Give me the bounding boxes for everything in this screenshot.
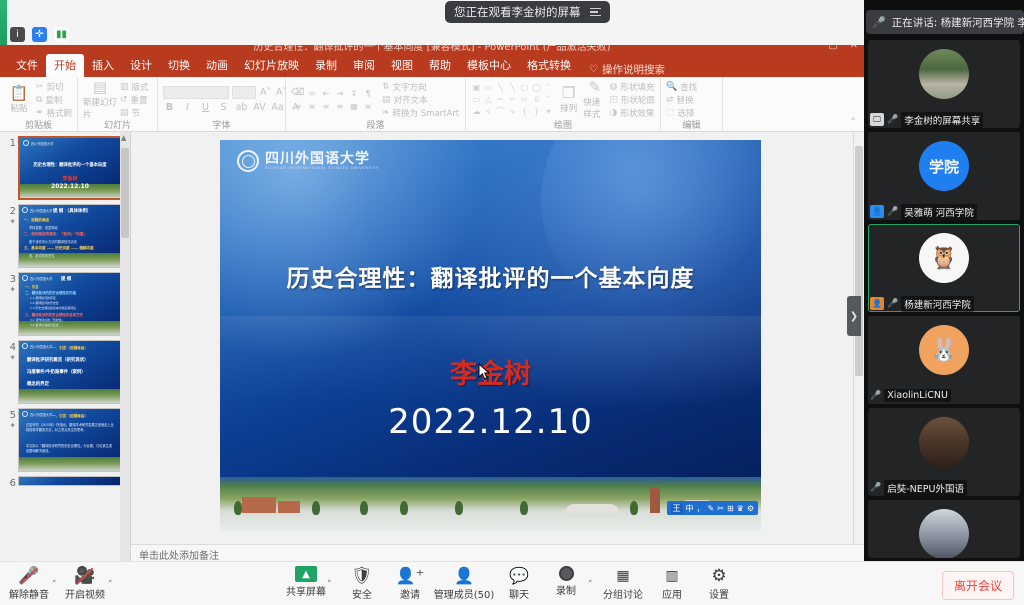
avatar: [919, 417, 969, 467]
distribute-icon[interactable]: ≡: [361, 100, 375, 113]
font-size-select[interactable]: [232, 86, 256, 99]
thumbnail-number: 3✦: [2, 272, 16, 294]
arrange-label: 排列: [560, 102, 577, 114]
group-label-clipboard: 剪贴板: [5, 120, 72, 132]
arrange-icon: ❐: [562, 86, 575, 101]
toolbar-participants-label: 管理成员(50): [434, 586, 495, 601]
thumbnail-number: 4✦: [2, 340, 16, 362]
convert-smartart-button[interactable]: ❧转换为 SmartArt: [382, 107, 459, 119]
text-direction-icon: ⇅: [382, 82, 390, 92]
campus-photo: 王 中 ， ✎ ✂ ⊞ ♛ ⚙: [220, 477, 761, 531]
shape-line-icon[interactable]: ╲: [495, 82, 506, 93]
italic-button[interactable]: I: [181, 102, 194, 113]
participant-tile-xiaolinlicnu[interactable]: 🐰 🎤 XiaolinLiCNU: [868, 316, 1020, 404]
leave-meeting-button[interactable]: 离开会议: [942, 571, 1014, 600]
record-options-chevron-icon[interactable]: ˄: [588, 580, 593, 590]
cohost-badge-icon: 👤: [870, 205, 884, 218]
shape-effects-icon: ◑: [609, 108, 617, 118]
participant-name: XiaolinLiCNU: [884, 389, 951, 402]
ribbon-tab-view[interactable]: 视图: [383, 54, 421, 77]
ime-tools-icon[interactable]: ✂: [717, 504, 724, 513]
select-icon: ⬚: [666, 108, 675, 118]
shadow-button[interactable]: S: [217, 102, 230, 113]
current-slide[interactable]: 四川外国语大学 SICHUAN INTERNATIONAL STUDIES UN…: [220, 140, 761, 531]
line-spacing-icon[interactable]: ↕: [347, 87, 361, 100]
thumb-date: 2022.12.10: [20, 183, 120, 190]
align-text-icon: ▤: [382, 95, 391, 105]
thumbnail-number: 2✦: [2, 204, 16, 226]
share-options-menu-icon[interactable]: [590, 8, 601, 17]
browser-icon-row: i ✛ ▮▮: [0, 24, 864, 45]
shape-rect-icon[interactable]: ▭: [483, 82, 494, 93]
layout-icon: ▥: [120, 82, 129, 92]
reset-button[interactable]: ↺重置: [120, 94, 149, 106]
thumb3-line2: 二、翻译批评的历史合理性的内涵: [25, 290, 76, 295]
quick-styles-label: 快速样式: [583, 96, 606, 120]
screen-share-indicator: [0, 0, 7, 45]
ribbon-tab-bar[interactable]: 文件 开始 插入 设计 切换 动画 幻灯片放映 录制 审阅 视图 帮助 模板中心…: [0, 55, 864, 77]
thumb2-line1: 一、选题的缘由: [24, 218, 49, 223]
cut-button[interactable]: ✂剪切: [36, 81, 72, 93]
character-spacing-button[interactable]: AV: [253, 102, 266, 113]
search-icon: 🔍: [666, 82, 677, 92]
thumb2-line3: 二、相关概念的厘定：「批评」「向度」: [24, 232, 87, 237]
thumb4-line1: 翻译批评研究概览（研究现状）: [27, 357, 88, 363]
thumb-title: 历史合理性：翻译批评的一个基本向度: [20, 162, 120, 168]
participant-footer: 👤 🎤 杨建新河西学院: [868, 295, 974, 312]
thumb5-line0: 一、引言（选题缘由）: [19, 414, 121, 419]
paragraph-buttons[interactable]: ≔ ≕ ⇤ ⇥ ↕ ¶ ≡ ≡ ≡ ≡ ▦ ≡: [291, 87, 375, 113]
arrange-button[interactable]: ❐ 排列: [557, 86, 580, 114]
section-button[interactable]: ▤节: [120, 107, 149, 119]
gear-icon: ⚙: [711, 566, 726, 585]
paste-button[interactable]: 📋 粘贴: [5, 86, 33, 114]
slide-thumbnail-panel[interactable]: 1 四川外国语大学 历史合理性：翻译批评的一个基本向度 李金树 2022.12.…: [0, 132, 131, 561]
ribbon-group-drawing: ▣ ▭ ╲ ╲ ▢ ◯ ˄ ▭ △ ⌐ ⌐ ⇨ ⇩ ˅ ☁ ✧ ⌒: [466, 77, 661, 132]
thumb4-line3: 概念的界定: [27, 381, 49, 387]
group-label-paragraph: 段落: [291, 120, 460, 132]
shield-badge-icon[interactable]: ✛: [32, 27, 47, 42]
numbering-icon[interactable]: ≕: [305, 87, 319, 100]
shape-bend-icon[interactable]: ⌐: [507, 94, 518, 105]
watching-screen-label: 您正在观看李金树的屏幕: [454, 4, 581, 20]
participant-tile-next[interactable]: [868, 500, 1020, 558]
change-case-button[interactable]: Aa: [271, 102, 284, 113]
shape-textbox-icon[interactable]: ▣: [471, 82, 482, 93]
thumb4-line0: 一、引言（选题缘由）: [19, 346, 121, 351]
mic-off-icon: 🎤: [870, 391, 881, 401]
avatar: 🦉: [919, 233, 969, 283]
thumbnail-scrollbar[interactable]: ▲: [120, 132, 130, 561]
mic-off-icon: 🎤: [18, 566, 39, 585]
brush-icon: ✒: [36, 108, 44, 118]
scrollbar-thumb[interactable]: [121, 148, 129, 238]
apps-icon: ▥: [665, 566, 678, 585]
thumb2-line2: 学科发展：双层神经: [29, 225, 58, 230]
mic-on-icon: 🎤: [887, 115, 898, 125]
thumbnail-item-3[interactable]: 3✦ 四川外国语大学 提 纲 一、引言 二、翻译批评的历史合理性的内涵 1.1 …: [0, 268, 130, 336]
ribbon-tab-file[interactable]: 文件: [8, 54, 46, 77]
thumbnail-item-2[interactable]: 2✦ 四川外国语大学 提 纲 （具体体例） 一、选题的缘由 学科发展：双层神经 …: [0, 200, 130, 268]
text-direction-button[interactable]: ⇅文字方向: [382, 81, 459, 93]
shape-arrow-right-icon[interactable]: ⇨: [519, 94, 530, 105]
shape-square-icon[interactable]: ▭: [471, 94, 482, 105]
expand-panel-chevron-icon[interactable]: ❯: [847, 296, 861, 336]
shape-brace-left-icon[interactable]: {: [519, 106, 530, 117]
toolbar-unmute-button[interactable]: 🎤 解除静音: [0, 566, 58, 601]
chat-icon: 💬: [509, 566, 529, 585]
ime-panel-icon[interactable]: ⊞: [727, 504, 734, 513]
replace-button[interactable]: ⇄替换: [666, 94, 697, 106]
format-painter-button[interactable]: ✒格式刷: [36, 107, 72, 119]
ribbon-group-font: A˄ A˅ ⌫ B I U S ab AV Aa A 字体: [158, 77, 286, 132]
toolbar-settings-button[interactable]: ⚙ 设置: [690, 566, 748, 601]
paste-label: 粘贴: [10, 102, 27, 114]
thumb3-line7: 3.1 译作评价的「历时性」: [30, 318, 64, 322]
font-family-select[interactable]: [163, 86, 229, 99]
ime-language-bar[interactable]: 王 中 ， ✎ ✂ ⊞ ♛ ⚙: [667, 501, 758, 515]
thumbnail-slide-5[interactable]: 四川外国语大学 一、引言（选题缘由） 正如许钧（2015年）所指出，翻译学术研究…: [18, 408, 122, 472]
toolbar-apps-label: 应用: [662, 586, 682, 601]
ime-chinese-icon[interactable]: 中: [686, 503, 694, 514]
participant-footer: 🎤 XiaolinLiCNU: [868, 387, 951, 404]
share-options-chevron-icon[interactable]: ˄: [327, 580, 332, 590]
toolbar-start-video-label: 开启视频: [65, 586, 105, 601]
slide-editing-stage: 四川外国语大学 SICHUAN INTERNATIONAL STUDIES UN…: [131, 132, 864, 544]
new-slide-button[interactable]: ▤ 新建幻灯片: [83, 80, 117, 120]
quick-styles-button[interactable]: ✎ 快速样式: [583, 80, 606, 120]
active-speaker-banner: 🎤 正在讲话: 杨建新河西学院 李: [866, 10, 1024, 34]
toolbar-chat-label: 聊天: [509, 586, 529, 601]
toolbar-record-label: 录制: [556, 582, 576, 597]
thumbnail-item-4[interactable]: 4✦ 四川外国语大学 一、引言（选题缘由） 翻译批评研究概览（研究现状） 冯唐事…: [0, 336, 130, 404]
thumb4-line2: 冯唐事件/牛奶路事件（案例）: [27, 369, 86, 375]
avatar: 学院: [919, 141, 969, 191]
thumb3-line0: 提 纲: [61, 276, 71, 282]
participant-name: 李金树的屏幕共享: [901, 112, 983, 128]
shape-curve-icon[interactable]: ⌐: [495, 94, 506, 105]
copy-button[interactable]: ⧉复制: [36, 94, 72, 106]
thumbnail-slide-6[interactable]: [18, 476, 122, 486]
ribbon-tab-template-center[interactable]: 模板中心: [459, 54, 519, 77]
shape-arrow-icon[interactable]: ╲: [507, 82, 518, 93]
new-slide-label: 新建幻灯片: [83, 96, 117, 120]
lightbulb-icon: ♡: [589, 64, 598, 75]
layout-button[interactable]: ▥版式: [120, 81, 149, 93]
thumbnail-slide-4[interactable]: 四川外国语大学 一、引言（选题缘由） 翻译批评研究概览（研究现状） 冯唐事件/牛…: [18, 340, 122, 404]
bold-button[interactable]: B: [163, 102, 176, 113]
select-button[interactable]: ⬚选择: [666, 107, 697, 119]
toolbar-invite-button[interactable]: 👤⁺ 邀请: [381, 566, 439, 601]
columns-icon[interactable]: ▦: [347, 100, 361, 113]
participant-name: 吴雅萌 河西学院: [901, 204, 977, 220]
ribbon-group-editing: 🔍查找 ⇄替换 ⬚选择 编辑: [661, 77, 723, 132]
screen-share-badge-icon: 🖵: [870, 113, 884, 126]
thumb3-line5: 1.3 历史合理性的基本内涵及其特征: [30, 306, 76, 310]
invite-icon: 👤⁺: [396, 566, 424, 585]
notes-placeholder: 单击此处添加备注: [139, 551, 219, 561]
toolbar-settings-label: 设置: [709, 586, 729, 601]
collapse-ribbon-icon[interactable]: ˄: [851, 116, 857, 129]
ime-wang-icon[interactable]: 王: [671, 503, 683, 514]
toolbar-unmute-label: 解除静音: [9, 586, 49, 601]
align-text-button[interactable]: ▤对齐文本: [382, 94, 459, 106]
slide-title: 历史合理性：翻译批评的一个基本向度: [220, 259, 761, 293]
thumbnail-slide-3[interactable]: 四川外国语大学 提 纲 一、引言 二、翻译批评的历史合理性的内涵 1.1 翻译批…: [18, 272, 122, 336]
shape-triangle-icon[interactable]: △: [483, 94, 494, 105]
scroll-up-icon[interactable]: ▲: [121, 134, 126, 142]
ime-settings-icon[interactable]: ⚙: [747, 504, 754, 513]
reset-icon: ↺: [120, 95, 128, 105]
quick-styles-icon: ✎: [589, 80, 602, 95]
shape-arc-icon[interactable]: ⌒: [495, 106, 506, 117]
align-left-icon[interactable]: ≡: [291, 100, 305, 113]
mic-off-icon: 🎤: [872, 16, 886, 29]
participant-footer: 👤 🎤 吴雅萌 河西学院: [868, 203, 977, 220]
participant-rail: 🖵 🎤 李金树的屏幕共享 学院 👤 🎤 吴雅萌 河西学院 🦉 👤 🎤 杨建新河西…: [864, 0, 1024, 561]
shape-fill-button[interactable]: ◍形状填充: [609, 81, 655, 93]
ribbon-tab-design[interactable]: 设计: [122, 54, 160, 77]
shape-brace-right-icon[interactable]: }: [531, 106, 542, 117]
ribbon-tab-insert[interactable]: 插入: [84, 54, 122, 77]
participant-footer: 🖵 🎤 李金树的屏幕共享: [868, 111, 983, 128]
chart-badge-icon[interactable]: ▮▮: [54, 27, 69, 42]
notes-pane[interactable]: 单击此处添加备注: [131, 544, 864, 561]
participant-tile-qizang[interactable]: 🎤 启奘-NEPU外国语: [868, 408, 1020, 496]
avatar: [919, 509, 969, 558]
shape-outline-button[interactable]: ◰形状轮廓: [609, 94, 655, 106]
align-right-icon[interactable]: ≡: [319, 100, 333, 113]
participants-icon: 👤: [454, 566, 474, 585]
shape-effects-button[interactable]: ◑形状效果: [609, 107, 655, 119]
shape-more-up-icon[interactable]: ˄: [543, 82, 554, 93]
thumb3-line4: 1.2 翻译批评的历史性: [30, 301, 59, 305]
scissors-icon: ✂: [36, 82, 44, 92]
scrollbar-thumb[interactable]: [855, 146, 863, 376]
increase-indent-icon[interactable]: ⇥: [333, 87, 347, 100]
thumb3-line6: 三、翻译批评的历史合理性的呈现方式: [25, 312, 83, 317]
ribbon-group-paragraph: ≔ ≕ ⇤ ⇥ ↕ ¶ ≡ ≡ ≡ ≡ ▦ ≡ ⇅文字方向 ▤对齐文本 ❧转换为…: [286, 77, 466, 132]
shape-roundrect-icon[interactable]: ▢: [519, 82, 530, 93]
university-seal-icon: [237, 150, 259, 172]
thumb-logo: 四川外国语大学: [23, 140, 53, 146]
thumbnail-slide-1[interactable]: 四川外国语大学 历史合理性：翻译批评的一个基本向度 李金树 2022.12.10: [18, 136, 122, 200]
ribbon-tab-slideshow[interactable]: 幻灯片放映: [236, 54, 307, 77]
thumbnail-number: 5✦: [2, 408, 16, 430]
ribbon-tab-format-convert[interactable]: 格式转换: [519, 54, 579, 77]
mic-off-icon: 🎤: [887, 207, 898, 217]
slide-date: 2022.12.10: [220, 402, 761, 442]
ribbon-tab-animations[interactable]: 动画: [198, 54, 236, 77]
group-label-font: 字体: [163, 120, 280, 132]
thumb3-line1: 一、引言: [25, 284, 39, 289]
find-button[interactable]: 🔍查找: [666, 81, 697, 93]
thumbnail-number: 6: [2, 476, 16, 489]
toolbar-participants-button[interactable]: 👤 管理成员(50): [432, 566, 496, 601]
toolbar-start-video-button[interactable]: 🎥 开启视频: [56, 566, 114, 601]
thumbnail-item-6[interactable]: 6: [0, 472, 130, 489]
smartart-icon: ❧: [382, 108, 390, 118]
shape-cloud-icon[interactable]: ☁: [471, 106, 482, 117]
group-label-drawing: 绘图: [471, 120, 655, 132]
thumb2-line4: 基于译作评价方法的翻译批评活动: [29, 239, 77, 244]
toolbar-record-button[interactable]: 录制: [537, 566, 595, 597]
thumbnail-item-5[interactable]: 5✦ 四川外国语大学 一、引言（选题缘由） 正如许钧（2015年）所指出，翻译学…: [0, 404, 130, 472]
host-badge-icon: 👤: [870, 297, 884, 310]
ribbon-tab-help[interactable]: 帮助: [421, 54, 459, 77]
university-name-en: SICHUAN INTERNATIONAL STUDIES UNIVERSITY: [265, 166, 379, 170]
replace-icon: ⇄: [666, 95, 674, 105]
mic-on-icon: 🎤: [887, 299, 898, 309]
increase-font-size-icon[interactable]: A˄: [259, 87, 272, 98]
info-icon[interactable]: i: [10, 27, 25, 42]
shape-gallery[interactable]: ▣ ▭ ╲ ╲ ▢ ◯ ˄ ▭ △ ⌐ ⌐ ⇨ ⇩ ˅ ☁ ✧ ⌒: [471, 82, 554, 117]
toolbar-invite-label: 邀请: [400, 586, 420, 601]
group-label-editing: 编辑: [666, 120, 717, 132]
ribbon-tab-transitions[interactable]: 切换: [160, 54, 198, 77]
new-slide-icon: ▤: [93, 80, 107, 95]
clipboard-icon: 📋: [10, 86, 29, 101]
align-center-icon[interactable]: ≡: [305, 100, 319, 113]
video-options-chevron-icon[interactable]: ˄: [108, 580, 113, 590]
ribbon-tab-record[interactable]: 录制: [307, 54, 345, 77]
speaking-label: 正在讲话: 杨建新河西学院 李: [892, 15, 1024, 30]
ribbon-tab-home[interactable]: 开始: [46, 54, 84, 77]
thumb5-line1: 正如许钧（2015年）所指出，翻译学术研究发展正逐渐走上比较的科学翻译方法，对之…: [26, 423, 115, 432]
toolbar-security-label: 安全: [352, 586, 372, 601]
shape-fill-icon: ◍: [609, 82, 617, 92]
toolbar-share-screen-label: 共享屏幕: [286, 583, 326, 598]
thumbnail-number: 1: [2, 136, 16, 149]
watching-screen-banner[interactable]: 您正在观看李金树的屏幕: [445, 1, 610, 23]
participant-tile-screen-share[interactable]: 🖵 🎤 李金树的屏幕共享: [868, 40, 1020, 128]
avatar: [919, 49, 969, 99]
ime-skin-icon[interactable]: ♛: [737, 504, 744, 513]
section-icon: ▤: [120, 108, 129, 118]
participant-tile-yangjianxin[interactable]: 🦉 👤 🎤 杨建新河西学院: [868, 224, 1020, 312]
avatar: 🐰: [919, 325, 969, 375]
thumb2-line5: 三、基本向度 —— 历史向度 —— 理解向度: [24, 246, 94, 251]
ime-handwriting-icon[interactable]: ✎: [708, 504, 715, 513]
participant-tile-wuyameng[interactable]: 学院 👤 🎤 吴雅萌 河西学院: [868, 132, 1020, 220]
slide-vertical-scrollbar[interactable]: [853, 132, 864, 544]
meeting-toolbar: 🎤 解除静音 ˄ 🎥 开启视频 ˄ ▲ 共享屏幕 ˄ 🛡 安全 👤⁺ 邀请 👤 …: [0, 561, 1024, 605]
top-notification-strip: 您正在观看李金树的屏幕: [0, 0, 864, 24]
thumb2-line6: 四、批评的历史性: [29, 253, 55, 258]
record-icon: [559, 566, 574, 581]
thumbnail-item-1[interactable]: 1 四川外国语大学 历史合理性：翻译批评的一个基本向度 李金树 2022.12.…: [0, 132, 130, 200]
video-off-icon: 🎥: [74, 566, 95, 585]
underline-button[interactable]: U: [199, 102, 212, 113]
ribbon-group-clipboard: 📋 粘贴 ✂剪切 ⧉复制 ✒格式刷 剪贴板: [0, 77, 78, 132]
shape-oval-icon[interactable]: ◯: [531, 82, 542, 93]
thumb3-line8: 3.2 批评标准的可变性: [30, 323, 59, 327]
toolbar-breakout-rooms-label: 分组讨论: [603, 586, 643, 601]
decrease-indent-icon[interactable]: ⇤: [319, 87, 333, 100]
shared-screen-region: 您正在观看李金树的屏幕 i ✛ ▮▮ 历史合理性：翻译批评的一个基本向度 [兼容…: [0, 0, 864, 561]
participant-name: 启奘-NEPU外国语: [884, 480, 967, 496]
thumbnail-slide-2[interactable]: 四川外国语大学 提 纲 （具体体例） 一、选题的缘由 学科发展：双层神经 二、相…: [18, 204, 122, 268]
shape-star-icon[interactable]: ✧: [483, 106, 494, 117]
shape-wave-icon[interactable]: ∿: [507, 106, 518, 117]
thumb3-line3: 1.1 翻译批评的界定: [30, 296, 56, 300]
group-label-slides: 幻灯片: [83, 120, 152, 132]
participant-footer: 🎤 启奘-NEPU外国语: [868, 479, 967, 496]
shield-icon: 🛡: [351, 566, 373, 585]
share-screen-icon: ▲: [295, 566, 317, 582]
ime-punctuation-icon[interactable]: ，: [697, 503, 705, 514]
breakout-rooms-icon: ▦: [616, 566, 629, 585]
university-logo: 四川外国语大学 SICHUAN INTERNATIONAL STUDIES UN…: [237, 150, 379, 172]
rtl-icon[interactable]: ¶: [361, 87, 375, 100]
justify-icon[interactable]: ≡: [333, 100, 347, 113]
copy-icon: ⧉: [36, 95, 42, 105]
tell-me-label: 操作说明搜索: [602, 62, 665, 77]
bullets-icon[interactable]: ≔: [291, 87, 305, 100]
thumb-author: 李金树: [20, 175, 120, 182]
university-name-cn: 四川外国语大学: [265, 152, 379, 167]
participant-name: 杨建新河西学院: [901, 296, 974, 312]
thumb2-line0: 提 纲 （具体体例）: [53, 208, 91, 214]
thumb5-line2: 本文拟以「翻译批评研究的历史合理性」为议题，讨论其生成依据和解决途径。: [26, 444, 115, 453]
shape-outline-icon: ◰: [609, 95, 618, 105]
shape-gallery-expand-icon[interactable]: ▾: [543, 106, 554, 117]
ribbon-body: 📋 粘贴 ✂剪切 ⧉复制 ✒格式刷 剪贴板 ▤ 新建幻灯片 ▥版式: [0, 77, 864, 132]
tell-me-search[interactable]: ♡ 操作说明搜索: [589, 62, 665, 77]
ribbon-tab-review[interactable]: 审阅: [345, 54, 383, 77]
mic-off-icon: 🎤: [870, 483, 881, 493]
strikethrough-button[interactable]: ab: [235, 102, 248, 113]
ribbon-group-slides: ▤ 新建幻灯片 ▥版式 ↺重置 ▤节 幻灯片: [78, 77, 158, 132]
shape-arrow-down-icon[interactable]: ⇩: [531, 94, 542, 105]
shape-more-down-icon[interactable]: ˅: [543, 94, 554, 105]
